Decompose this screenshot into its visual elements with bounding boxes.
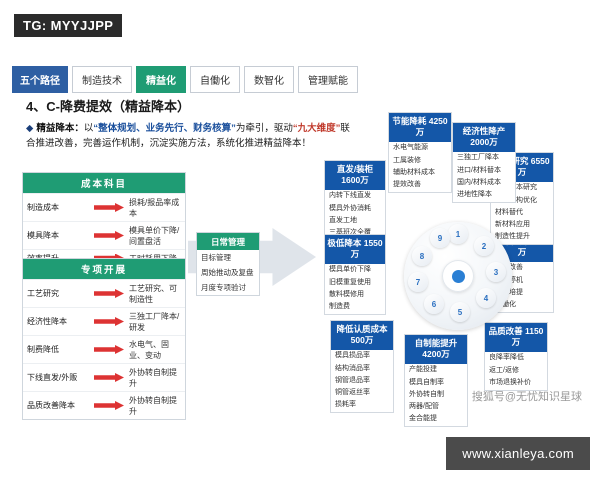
lead-text-2: 为牵引，驱动 (236, 123, 293, 134)
list-item: 散料模修用 (325, 288, 385, 300)
list-item: 返工/返修 (485, 364, 547, 376)
arrow-icon (94, 373, 124, 382)
list-item: 良降率降低 (485, 352, 547, 364)
hub-petal-5[interactable]: 5 (450, 302, 470, 322)
tabbar-lead-label: 五个路径 (12, 66, 68, 93)
card-title: 降低认质成本 500万 (331, 321, 393, 350)
tab-manufacturing-tech[interactable]: 制造技术 (72, 66, 132, 93)
arrow-icon (94, 317, 124, 326)
list-item: 模具自制率 (405, 376, 467, 388)
list-item: 金合能提 (405, 412, 467, 426)
tab-lean[interactable]: 精益化 (136, 66, 186, 93)
list-item: 进口/材料替本 (453, 164, 515, 176)
diamond-bullet-icon: ◆ (26, 123, 33, 134)
list-item: 水电气能源 (389, 142, 451, 154)
arrow-icon (94, 231, 124, 240)
card-title: 经济性降产 2000万 (453, 123, 515, 152)
list-item: 制造费 (325, 300, 385, 314)
list-item: 目标管理 (197, 250, 259, 265)
row-value: 工艺研究、可制造性 (129, 283, 181, 305)
row-label: 制造成本 (27, 202, 89, 213)
arrow-icon (94, 401, 124, 410)
lead-text-1: 以 (84, 123, 94, 134)
panel-special-programs: 专项开展 工艺研究 工艺研究、可制造性 经济性降本 三独工厂降本/研发 制费降低… (22, 258, 186, 420)
card-zhijie-zhuangshi[interactable]: 直发/装柜 1600万 内转下线直发 模具外协消耗 直发工地 三基班次全覆 (324, 160, 386, 241)
table-row: 制造成本 损耗/报品率成本 (23, 193, 185, 221)
lead-red: “九大维度” (293, 123, 341, 134)
hub-petal-4[interactable]: 4 (476, 288, 496, 308)
list-item: 辅助材料成本 (389, 166, 451, 178)
list-item: 模具外协消耗 (325, 202, 385, 214)
hub-core (442, 260, 474, 292)
row-value: 水电气、固业、变动 (129, 339, 181, 361)
hub-petal-8[interactable]: 8 (412, 246, 432, 266)
table-row: 制费降低 水电气、固业、变动 (23, 335, 185, 363)
hub-core-icon (452, 270, 465, 283)
row-label: 经济性降本 (27, 316, 89, 327)
hub-petal-6[interactable]: 6 (424, 294, 444, 314)
hub-petal-1[interactable]: 1 (448, 224, 468, 244)
list-item: 直发工地 (325, 214, 385, 226)
list-item: 月度专项验讨 (197, 280, 259, 295)
list-item: 国内/材料成本 (453, 176, 515, 188)
card-jiangdi-renlicheng[interactable]: 降低认质成本 500万 模具损品率 结构消品率 钢管退品率 铜管返丝率 损耗率 (330, 320, 394, 413)
tab-management[interactable]: 管理赋能 (298, 66, 358, 93)
list-item: 市场退换补价 (485, 376, 547, 390)
hub-petal-2[interactable]: 2 (474, 236, 494, 256)
table-row: 模具降本 模具单价下降/间置盘活 (23, 221, 185, 249)
list-item: 内转下线直发 (325, 190, 385, 202)
table-row: 经济性降本 三独工厂降本/研发 (23, 307, 185, 335)
row-value: 损耗/报品率成本 (129, 197, 181, 219)
tab-digital[interactable]: 数智化 (244, 66, 294, 93)
daily-management-title: 日常管理 (197, 233, 259, 250)
list-item: 提效改善 (389, 178, 451, 192)
list-item: 钢管退品率 (331, 374, 393, 386)
list-item: 三独工厂降本 (453, 152, 515, 164)
list-item: 工属装修 (389, 154, 451, 166)
row-value: 三独工厂降本/研发 (129, 311, 181, 333)
list-item: 损耗率 (331, 398, 393, 412)
list-item: 结构消品率 (331, 362, 393, 374)
list-item: 模具单价下降 (325, 264, 385, 276)
card-jidi-jiangben[interactable]: 极低降本 1550万 模具单价下降 旧模重复使用 散料模修用 制造费 (324, 234, 386, 315)
lead-paragraph: ◆精益降本：以“整体规划、业务先行、财务核算”为牵引，驱动“九大维度”联合推进改… (26, 122, 356, 151)
list-item: 两器/配管 (405, 400, 467, 412)
panel-cost-subjects-title: 成本科目 (23, 173, 185, 193)
lead-label: 精益降本： (36, 123, 84, 134)
hub-petal-7[interactable]: 7 (408, 272, 428, 292)
card-title: 直发/装柜 1600万 (325, 161, 385, 190)
row-label: 模具降本 (27, 230, 89, 241)
row-label: 品质改善降本 (27, 400, 89, 411)
tg-watermark-badge: TG: MYYJJPP (14, 14, 122, 37)
table-row: 下线直发/外贩 外协转自制提升 (23, 363, 185, 391)
card-zizhi-nengli[interactable]: 自制能提升 4200万 产能投建 模具自制率 外协转自制 两器/配管 金合能提 (404, 334, 468, 427)
hub-petal-9[interactable]: 9 (430, 228, 450, 248)
list-item: 产能投建 (405, 364, 467, 376)
arrow-icon (94, 289, 124, 298)
list-item: 周始推动及复盘 (197, 265, 259, 280)
path-tabbar: 五个路径 制造技术 精益化 自働化 数智化 管理赋能 (12, 66, 358, 93)
table-row: 品质改善降本 外协转自制提升 (23, 391, 185, 419)
card-jingji-xingjiang[interactable]: 经济性降产 2000万 三独工厂降本 进口/材料替本 国内/材料成本 进地性降本 (452, 122, 516, 203)
list-item: 模具损品率 (331, 350, 393, 362)
list-item: 铜管返丝率 (331, 386, 393, 398)
card-title: 极低降本 1550万 (325, 235, 385, 264)
card-jieneng-jianghao[interactable]: 节能降耗 4250万 水电气能源 工属装修 辅助材料成本 提效改善 (388, 112, 452, 193)
arrow-icon (94, 203, 124, 212)
card-title: 自制能提升 4200万 (405, 335, 467, 364)
table-row: 工艺研究 工艺研究、可制造性 (23, 279, 185, 307)
arrow-icon (94, 345, 124, 354)
hub-petal-3[interactable]: 3 (486, 262, 506, 282)
panel-daily-management: 日常管理 目标管理 周始推动及复盘 月度专项验讨 (196, 232, 260, 296)
list-item: 进地性降本 (453, 188, 515, 202)
row-value: 外协转自制提升 (129, 395, 181, 417)
row-label: 工艺研究 (27, 288, 89, 299)
panel-special-programs-title: 专项开展 (23, 259, 185, 279)
row-value: 外协转自制提升 (129, 367, 181, 389)
list-item: 外协转自制 (405, 388, 467, 400)
list-item: 旧模重复使用 (325, 276, 385, 288)
tab-automation[interactable]: 自働化 (190, 66, 240, 93)
page-title: 4、C-降费提效（精益降本） (26, 96, 190, 115)
row-label: 下线直发/外贩 (27, 372, 89, 383)
lead-bold: “整体规划、业务先行、财务核算” (93, 123, 236, 134)
site-watermark: www.xianleya.com (446, 437, 590, 470)
row-label: 制费降低 (27, 344, 89, 355)
row-value: 模具单价下降/间置盘活 (129, 225, 181, 247)
card-title: 节能降耗 4250万 (389, 113, 451, 142)
nine-dimension-hub: 1 2 3 4 5 6 7 8 9 (398, 216, 518, 336)
